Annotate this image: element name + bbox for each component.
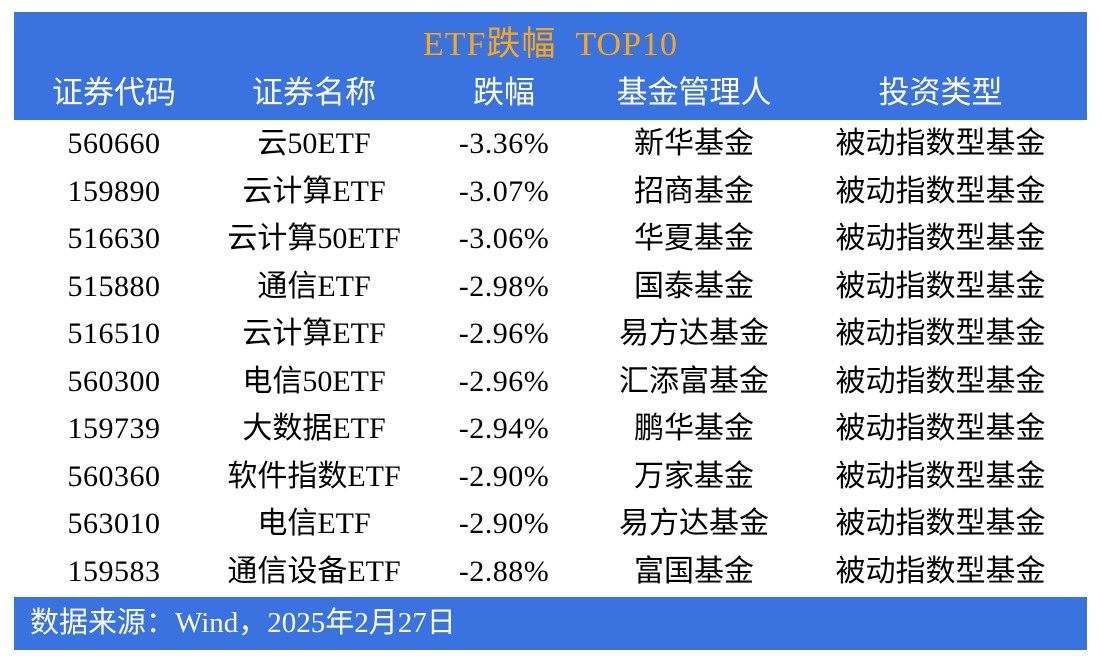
cell-name: 软件指数ETF [214,453,414,501]
table-row: 159890云计算ETF-3.07%招商基金被动指数型基金 [14,168,1087,216]
cell-change: -2.98% [414,263,594,311]
cell-type: 被动指数型基金 [794,263,1087,311]
cell-code: 159890 [14,168,214,216]
cell-manager: 招商基金 [594,168,794,216]
table-header-block: ETF跌幅 TOP10 证券代码 证券名称 跌幅 基金管理人 投资类型 [14,12,1087,120]
table-row: 515880通信ETF-2.98%国泰基金被动指数型基金 [14,263,1087,311]
cell-type: 被动指数型基金 [794,500,1087,548]
cell-name: 通信ETF [214,263,414,311]
cell-change: -3.36% [414,120,594,168]
table-row: 560660云50ETF-3.36%新华基金被动指数型基金 [14,120,1087,168]
cell-code: 560660 [14,120,214,168]
cell-code: 563010 [14,500,214,548]
data-source-text: 数据来源：Wind，2025年2月27日 [30,597,456,650]
table-row: 560360软件指数ETF-2.90%万家基金被动指数型基金 [14,453,1087,501]
cell-manager: 华夏基金 [594,215,794,263]
cell-type: 被动指数型基金 [794,310,1087,358]
etf-decline-top10-table: ETF跌幅 TOP10 证券代码 证券名称 跌幅 基金管理人 投资类型 5606… [0,0,1102,662]
table-row: 560300电信50ETF-2.96%汇添富基金被动指数型基金 [14,358,1087,406]
table-row: 516630云计算50ETF-3.06%华夏基金被动指数型基金 [14,215,1087,263]
cell-change: -2.88% [414,548,594,596]
cell-change: -2.90% [414,453,594,501]
cell-name: 通信设备ETF [214,548,414,596]
cell-change: -2.96% [414,310,594,358]
column-header-code: 证券代码 [14,70,214,116]
cell-name: 云50ETF [214,120,414,168]
cell-manager: 易方达基金 [594,500,794,548]
table-row: 563010电信ETF-2.90%易方达基金被动指数型基金 [14,500,1087,548]
cell-type: 被动指数型基金 [794,120,1087,168]
cell-code: 159739 [14,405,214,453]
cell-manager: 鹏华基金 [594,405,794,453]
cell-change: -3.06% [414,215,594,263]
cell-change: -2.90% [414,500,594,548]
data-source-band: 数据来源：Wind，2025年2月27日 [14,597,1087,650]
cell-code: 516510 [14,310,214,358]
column-header-change: 跌幅 [414,70,594,116]
table-body: 560660云50ETF-3.36%新华基金被动指数型基金159890云计算ET… [14,120,1087,595]
cell-name: 电信50ETF [214,358,414,406]
cell-type: 被动指数型基金 [794,548,1087,596]
cell-manager: 新华基金 [594,120,794,168]
table-row: 159739大数据ETF-2.94%鹏华基金被动指数型基金 [14,405,1087,453]
cell-change: -2.96% [414,358,594,406]
table-row: 516510云计算ETF-2.96%易方达基金被动指数型基金 [14,310,1087,358]
cell-type: 被动指数型基金 [794,215,1087,263]
cell-type: 被动指数型基金 [794,405,1087,453]
cell-type: 被动指数型基金 [794,358,1087,406]
page-title: ETF跌幅 TOP10 [14,26,1087,64]
cell-name: 云计算ETF [214,310,414,358]
table-header-row: 证券代码 证券名称 跌幅 基金管理人 投资类型 [14,70,1087,116]
cell-name: 云计算ETF [214,168,414,216]
cell-manager: 汇添富基金 [594,358,794,406]
cell-manager: 国泰基金 [594,263,794,311]
cell-manager: 易方达基金 [594,310,794,358]
cell-change: -3.07% [414,168,594,216]
cell-change: -2.94% [414,405,594,453]
cell-type: 被动指数型基金 [794,453,1087,501]
column-header-type: 投资类型 [794,70,1087,116]
cell-code: 515880 [14,263,214,311]
cell-type: 被动指数型基金 [794,168,1087,216]
column-header-name: 证券名称 [214,70,414,116]
cell-name: 电信ETF [214,500,414,548]
cell-name: 大数据ETF [214,405,414,453]
table-row: 159583通信设备ETF-2.88%富国基金被动指数型基金 [14,548,1087,596]
cell-manager: 万家基金 [594,453,794,501]
cell-code: 560300 [14,358,214,406]
cell-code: 560360 [14,453,214,501]
column-header-manager: 基金管理人 [594,70,794,116]
cell-manager: 富国基金 [594,548,794,596]
cell-code: 516630 [14,215,214,263]
cell-code: 159583 [14,548,214,596]
cell-name: 云计算50ETF [214,215,414,263]
